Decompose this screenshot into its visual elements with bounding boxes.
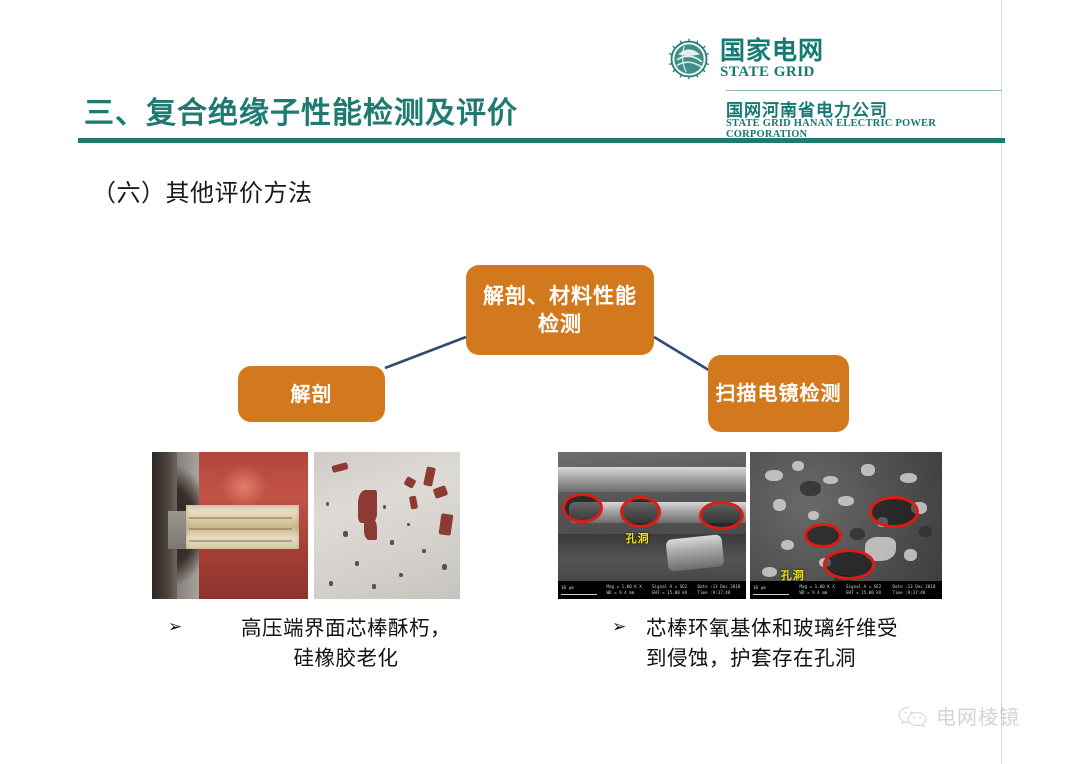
sem-hole-marker	[620, 496, 661, 528]
page-title: 三、复合绝缘子性能检测及评价	[84, 88, 518, 132]
sem-scale: 10 μm	[753, 585, 800, 595]
sem-hole-label: 孔洞	[626, 530, 650, 546]
sem-scale: 10 μm	[561, 585, 607, 595]
photo-core-streak	[189, 540, 292, 542]
logo-primary: 国家电网 STATE GRID	[666, 36, 824, 82]
caption-left: ➢ 高压端界面芯棒酥朽， 硅橡胶老化	[168, 614, 498, 673]
caption-left-line2: 硅橡胶老化	[194, 644, 498, 674]
sem-mag: Mag = 1.00 K X WD = 9.4 mm	[800, 584, 847, 597]
diagram-node-sem[interactable]: 扫描电镜检测	[708, 355, 849, 432]
photo-sem-fibers: 孔洞 10 μm Mag = 1.00 K X WD = 9.4 mm Sign…	[558, 452, 746, 599]
logo-cn-name: 国家电网	[720, 38, 824, 63]
wechat-icon	[898, 704, 928, 728]
state-grid-logo: 国家电网 STATE GRID 国网河南省电力公司 STATE GRID HAN…	[666, 36, 1002, 132]
caption-right-line1: 芯棒环氧基体和玻璃纤维受	[646, 614, 982, 644]
photo-core-rod-decay	[152, 452, 308, 599]
diagram-node-root[interactable]: 解剖、材料性能检测	[466, 265, 654, 355]
sem-info-bar: 10 μm Mag = 1.00 K X WD = 9.4 mm Signal …	[558, 581, 746, 599]
diagram-node-dissection[interactable]: 解剖	[238, 366, 385, 422]
sem-hole-marker	[869, 496, 919, 528]
photo-sem-sheath: 孔洞 10 μm Mag = 1.00 K X WD = 9.4 mm Sign…	[750, 452, 942, 599]
sem-mag: Mag = 1.00 K X WD = 9.4 mm	[607, 584, 653, 597]
caption-right: ➢ 芯棒环氧基体和玻璃纤维受 到侵蚀，护套存在孔洞	[612, 614, 982, 673]
bullet-arrow-icon: ➢	[612, 615, 627, 640]
sem-hole-marker	[823, 549, 875, 580]
wechat-watermark: 电网棱镜	[898, 701, 1020, 730]
photo-core-streak	[189, 517, 292, 519]
sem-hole-marker	[562, 493, 603, 522]
section-heading: （六）其他评价方法	[92, 173, 313, 208]
caption-right-line2: 到侵蚀，护套存在孔洞	[646, 644, 982, 674]
logo-divider	[726, 90, 1002, 91]
logo-en-name: STATE GRID	[720, 65, 824, 80]
sem-datetime: Date :13 Dec 2018 Time :9:37:48	[698, 584, 744, 597]
photo-core-streak	[189, 528, 292, 530]
photo-highlight	[221, 464, 268, 508]
logo-wordmark: 国家电网 STATE GRID	[720, 38, 824, 80]
bullet-arrow-icon: ➢	[168, 615, 183, 640]
sem-datetime: Date :13 Dec 2018 Time :9:37:48	[893, 584, 940, 597]
slide-canvas: 国家电网 STATE GRID 国网河南省电力公司 STATE GRID HAN…	[0, 0, 1080, 764]
photo-core-rod	[186, 505, 298, 549]
logo-sub-en-name: STATE GRID HANAN ELECTRIC POWER CORPORAT…	[726, 118, 1002, 140]
wechat-account-name: 电网棱镜	[936, 701, 1020, 730]
sem-signal: Signal A = SE2 EHT = 15.00 kV	[846, 584, 893, 597]
sem-signal: Signal A = SE2 EHT = 15.00 kV	[652, 584, 698, 597]
sem-hole-marker	[699, 501, 744, 530]
caption-left-line1: 高压端界面芯棒酥朽，	[194, 614, 498, 644]
title-underline-rule	[78, 138, 1005, 143]
photo-silicone-aging	[314, 452, 460, 599]
state-grid-globe-icon	[666, 36, 712, 82]
sem-hole-marker	[804, 523, 842, 548]
sem-info-bar: 10 μm Mag = 1.00 K X WD = 9.4 mm Signal …	[750, 581, 942, 599]
